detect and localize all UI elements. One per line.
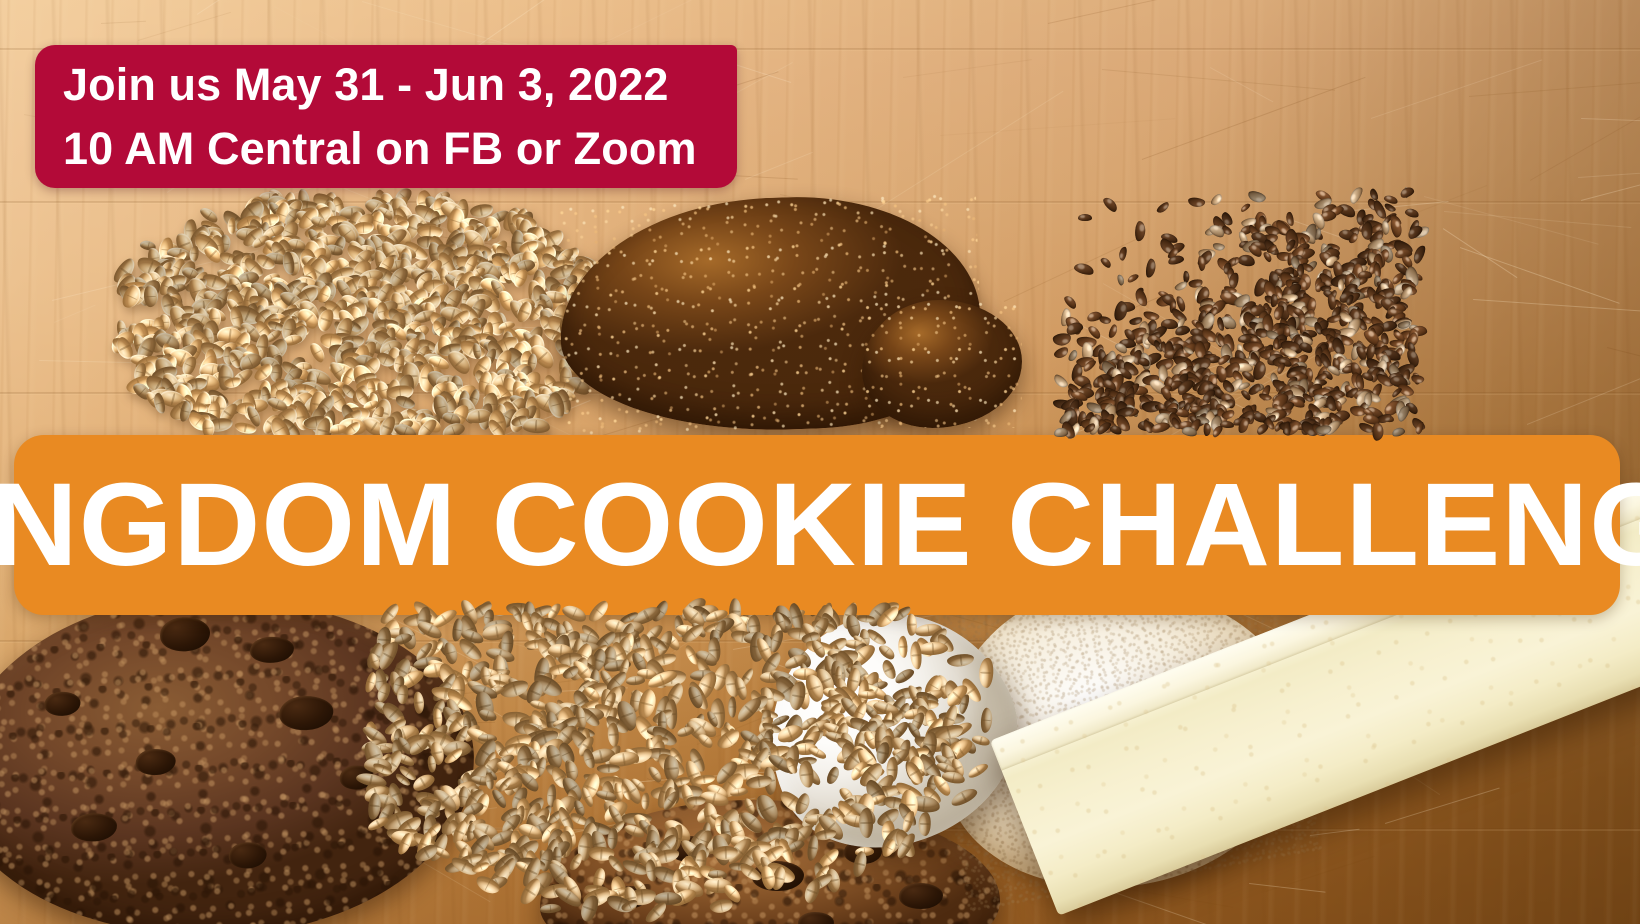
date-time-badge: Join us May 31 - Jun 3, 2022 10 AM Centr… <box>35 45 737 188</box>
oat-grain <box>478 707 498 722</box>
flax-seed-stray <box>1118 246 1128 261</box>
flax-seed <box>1240 202 1252 213</box>
flax-seed <box>1053 332 1072 346</box>
flax-seed <box>1209 192 1224 207</box>
oat-grain <box>597 763 620 773</box>
flax-seed <box>1144 259 1156 280</box>
flax-seed <box>1116 274 1125 287</box>
flax-seed <box>1133 288 1148 308</box>
oat-grain <box>641 792 650 809</box>
title-banner: KINGDOM COOKIE CHALLENGE <box>14 435 1620 615</box>
flax-seed-stray <box>1155 200 1170 214</box>
poster-title: KINGDOM COOKIE CHALLENGE <box>0 466 1640 584</box>
flax-seed <box>1108 324 1119 340</box>
flax-seed <box>1247 189 1267 204</box>
wheat-berry <box>189 245 200 262</box>
wheat-berry <box>228 218 236 235</box>
flax-seed-stray <box>1187 197 1205 208</box>
oat-grain <box>687 796 706 805</box>
flax-seed <box>1274 338 1280 350</box>
oat-grain <box>676 724 695 738</box>
badge-line-time: 10 AM Central on FB or Zoom <box>63 117 737 181</box>
wheat-berries-pile <box>120 196 590 431</box>
badge-line-date: Join us May 31 - Jun 3, 2022 <box>63 53 737 117</box>
flax-seed <box>1099 255 1112 268</box>
flax-seed <box>1338 279 1344 291</box>
flax-seed-stray <box>1134 221 1146 242</box>
flax-seed-stray <box>1078 214 1092 221</box>
flax-seeds-pile <box>1060 192 1420 432</box>
oat-grain <box>859 808 873 838</box>
flax-seed <box>1126 272 1140 284</box>
poster-canvas: Join us May 31 - Jun 3, 2022 10 AM Centr… <box>0 0 1640 924</box>
flax-seed <box>1404 208 1419 220</box>
flax-seed <box>1237 254 1256 268</box>
brown-sugar-granule-texture <box>862 300 1022 428</box>
oat-grain <box>443 641 460 665</box>
flax-seed-stray <box>1073 261 1095 277</box>
flax-seed <box>1174 281 1188 293</box>
cookie-chip <box>899 883 943 909</box>
brown-sugar-mound-spur <box>862 300 1022 428</box>
flax-seed <box>1390 217 1404 238</box>
oat-grain <box>728 697 736 718</box>
oat-grain <box>626 675 645 686</box>
flax-seed-stray <box>1101 195 1119 213</box>
flax-seed <box>1054 427 1068 437</box>
flax-seed <box>1259 393 1273 402</box>
flax-seed <box>1099 316 1112 326</box>
